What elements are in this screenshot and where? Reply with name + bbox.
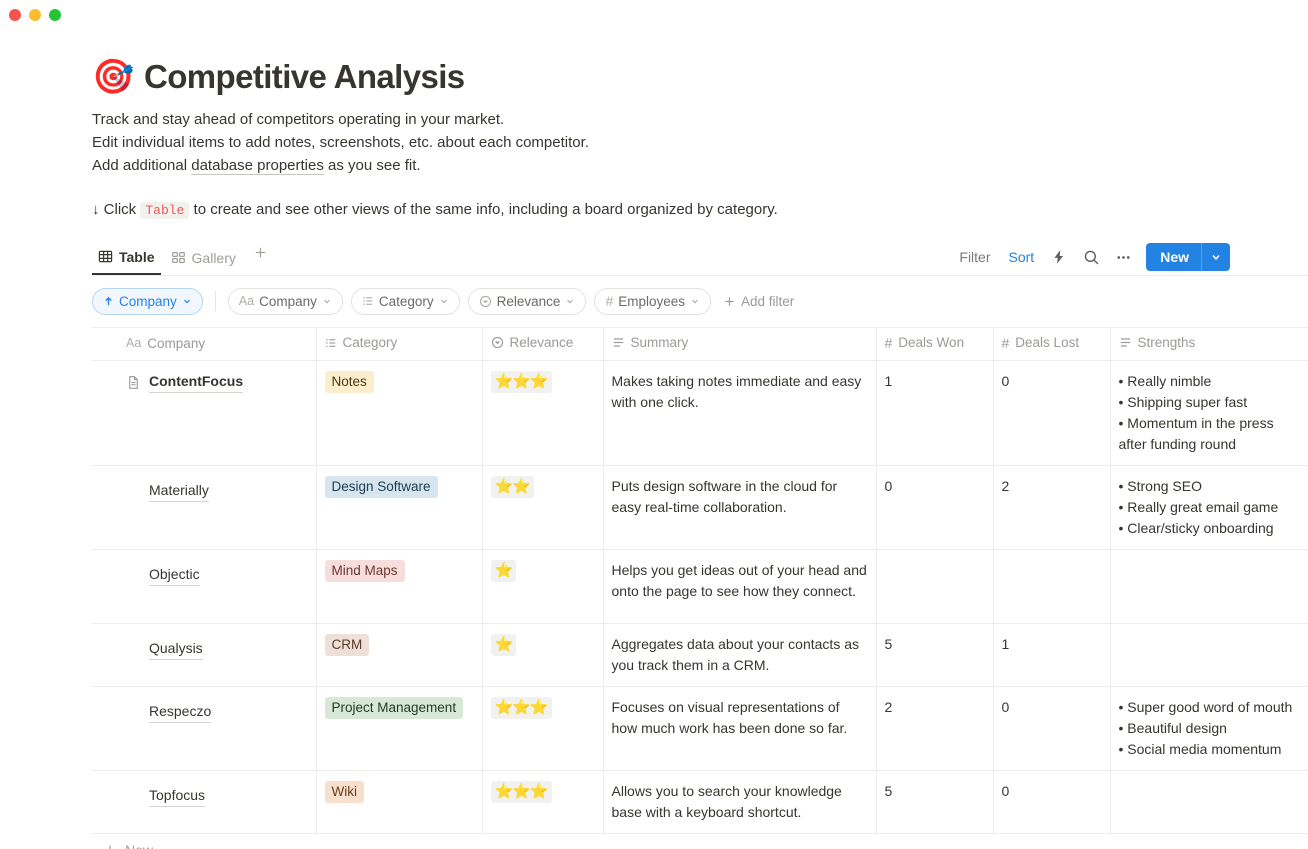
multiselect-icon <box>325 337 337 349</box>
lightning-icon[interactable] <box>1046 244 1072 270</box>
add-view-button[interactable] <box>246 245 275 268</box>
company-name[interactable]: Objectic <box>149 564 200 586</box>
hint-line: ↓ Click Table to create and see other vi… <box>92 198 1308 222</box>
column-header-category-label: Category <box>343 335 398 350</box>
filter-chip-employees[interactable]: # Employees <box>594 288 711 315</box>
cell-summary[interactable]: Allows you to search your knowledge base… <box>603 771 876 834</box>
category-tag: Mind Maps <box>325 560 405 582</box>
multiselect-icon <box>362 295 374 307</box>
sort-chip-label: Company <box>119 294 177 309</box>
cell-deals-lost[interactable]: 0 <box>993 771 1110 834</box>
column-header-deals-lost[interactable]: # Deals Lost <box>993 328 1110 361</box>
description-link-suffix: as you see fit. <box>324 157 421 174</box>
column-header-deals-lost-label: Deals Lost <box>1015 335 1079 350</box>
tab-gallery-label: Gallery <box>192 250 236 266</box>
tab-table[interactable]: Table <box>92 241 161 275</box>
page-description: Track and stay ahead of competitors oper… <box>92 108 1308 222</box>
cell-summary[interactable]: Aggregates data about your contacts as y… <box>603 624 876 687</box>
cell-category[interactable]: CRM <box>316 624 482 687</box>
cell-deals-won[interactable] <box>876 550 993 624</box>
column-header-strengths[interactable]: Strengths <box>1110 328 1308 361</box>
filter-chip-category[interactable]: Category <box>351 288 460 315</box>
add-filter-label: Add filter <box>741 294 794 309</box>
filter-chip-relevance[interactable]: Relevance <box>468 288 587 315</box>
category-tag: Project Management <box>325 697 464 719</box>
tab-table-label: Table <box>119 249 155 265</box>
cell-deals-lost[interactable]: 2 <box>993 466 1110 550</box>
relevance-stars: ⭐⭐⭐ <box>491 371 552 393</box>
company-name[interactable]: Materially <box>149 480 209 502</box>
new-button[interactable]: New <box>1146 243 1230 271</box>
window-close-button[interactable] <box>9 9 21 21</box>
filter-bar-divider <box>215 291 216 311</box>
cell-relevance[interactable]: ⭐⭐⭐ <box>482 687 603 771</box>
cell-summary[interactable]: Focuses on visual representations of how… <box>603 687 876 771</box>
filter-chip-category-label: Category <box>379 294 434 309</box>
column-header-relevance[interactable]: Relevance <box>482 328 603 361</box>
category-tag: CRM <box>325 634 370 656</box>
filter-chip-company[interactable]: Aa Company <box>228 288 343 315</box>
cell-category[interactable]: Mind Maps <box>316 550 482 624</box>
cell-strengths[interactable]: • Really nimble • Shipping super fast • … <box>1110 361 1308 466</box>
database-properties-link[interactable]: database properties <box>191 157 324 175</box>
number-icon: # <box>885 336 893 350</box>
company-name[interactable]: Topfocus <box>149 785 205 807</box>
page-content: 🎯 Competitive Analysis Track and stay ah… <box>0 58 1308 849</box>
table-row[interactable]: Qualysis CRM ⭐ Aggregates data about you… <box>92 624 1308 687</box>
cell-category[interactable]: Notes <box>316 361 482 466</box>
filter-button[interactable]: Filter <box>953 245 996 269</box>
column-header-company-label: Company <box>147 336 205 351</box>
column-header-summary[interactable]: Summary <box>603 328 876 361</box>
category-tag: Wiki <box>325 781 365 803</box>
table-icon <box>98 249 113 264</box>
database-table-wrapper: Aa Company <box>92 327 1308 849</box>
sort-button[interactable]: Sort <box>1003 245 1041 269</box>
category-tag: Notes <box>325 371 374 393</box>
cell-category[interactable]: Project Management <box>316 687 482 771</box>
target-icon: 🎯 <box>92 60 132 94</box>
page-icon[interactable] <box>126 375 142 390</box>
column-header-summary-label: Summary <box>631 335 689 350</box>
filter-chip-employees-label: Employees <box>618 294 685 309</box>
chevron-down-icon[interactable] <box>1202 243 1230 271</box>
cell-strengths[interactable] <box>1110 550 1308 624</box>
chevron-down-icon <box>322 296 332 306</box>
cell-category[interactable]: Design Software <box>316 466 482 550</box>
number-icon: # <box>605 294 613 308</box>
chevron-down-icon <box>690 296 700 306</box>
view-bar: Table Gallery Fil <box>92 242 1308 276</box>
table-header-row: Aa Company <box>92 328 1308 361</box>
search-icon[interactable] <box>1078 244 1104 270</box>
column-header-company[interactable]: Aa Company <box>92 328 316 361</box>
cell-company[interactable]: Topfocus <box>92 771 316 834</box>
hint-prefix: ↓ Click <box>92 201 140 218</box>
page-title: Competitive Analysis <box>144 58 465 96</box>
cell-relevance[interactable]: ⭐⭐ <box>482 466 603 550</box>
cell-company[interactable]: Materially <box>92 466 316 550</box>
page-header: 🎯 Competitive Analysis <box>92 58 1308 96</box>
cell-deals-won[interactable]: 0 <box>876 466 993 550</box>
gallery-icon <box>171 250 186 265</box>
table-row[interactable]: ContentFocus Notes ⭐⭐⭐ Makes taking note… <box>92 361 1308 466</box>
number-icon: # <box>1002 336 1010 350</box>
cell-deals-lost[interactable]: 0 <box>993 687 1110 771</box>
description-line-1: Track and stay ahead of competitors oper… <box>92 108 1308 131</box>
cell-deals-won[interactable]: 5 <box>876 771 993 834</box>
description-link-prefix: Add additional <box>92 157 191 174</box>
new-button-label: New <box>1146 243 1201 271</box>
cell-strengths[interactable]: • Super good word of mouth • Beautiful d… <box>1110 687 1308 771</box>
category-tag: Design Software <box>325 476 438 498</box>
company-name[interactable]: Respeczo <box>149 701 211 723</box>
relevance-stars: ⭐⭐⭐ <box>491 697 552 719</box>
relevance-stars: ⭐⭐ <box>491 476 534 498</box>
tab-gallery[interactable]: Gallery <box>165 241 242 275</box>
cell-summary[interactable]: Helps you get ideas out of your head and… <box>603 550 876 624</box>
table-code-chip: Table <box>140 202 189 219</box>
column-header-relevance-label: Relevance <box>510 335 574 350</box>
filter-chip-company-label: Company <box>259 294 317 309</box>
text-icon: Aa <box>239 294 254 308</box>
relevance-stars: ⭐ <box>491 560 517 582</box>
table-row[interactable]: Objectic Mind Maps ⭐ Helps you get ideas… <box>92 550 1308 624</box>
window-minimize-button[interactable] <box>29 9 41 21</box>
cell-relevance[interactable]: ⭐ <box>482 624 603 687</box>
cell-company[interactable]: Respeczo <box>92 687 316 771</box>
select-icon <box>491 336 504 349</box>
cell-strengths[interactable] <box>1110 771 1308 834</box>
cell-company[interactable]: Qualysis <box>92 624 316 687</box>
cell-company[interactable]: Objectic <box>92 550 316 624</box>
add-filter-button[interactable]: Add filter <box>719 294 798 309</box>
cell-deals-lost[interactable]: 1 <box>993 624 1110 687</box>
hint-suffix: to create and see other views of the sam… <box>189 201 777 218</box>
sort-chip-company[interactable]: Company <box>92 288 203 315</box>
view-tabs: Table Gallery <box>92 241 275 275</box>
plus-icon <box>723 295 736 308</box>
table-header: Aa Company <box>92 328 1308 361</box>
table-row[interactable]: Respeczo Project Management ⭐⭐⭐ Focuses … <box>92 687 1308 771</box>
cell-relevance[interactable]: ⭐⭐⭐ <box>482 771 603 834</box>
ellipsis-icon[interactable] <box>1110 244 1136 270</box>
cell-strengths[interactable]: • Strong SEO • Really great email game •… <box>1110 466 1308 550</box>
cell-deals-lost[interactable]: 0 <box>993 361 1110 466</box>
description-spacer <box>92 177 1308 198</box>
column-header-deals-won-label: Deals Won <box>898 335 964 350</box>
filter-chip-relevance-label: Relevance <box>497 294 561 309</box>
plus-icon <box>103 843 117 849</box>
relevance-stars: ⭐⭐⭐ <box>491 781 552 803</box>
cell-deals-lost[interactable] <box>993 550 1110 624</box>
column-header-strengths-label: Strengths <box>1138 335 1196 350</box>
table-row[interactable]: Topfocus Wiki ⭐⭐⭐ Allows you to search y… <box>92 771 1308 834</box>
new-row-button[interactable]: New <box>92 834 1308 849</box>
cell-deals-won[interactable]: 1 <box>876 361 993 466</box>
cell-deals-won[interactable]: 2 <box>876 687 993 771</box>
longtext-icon <box>1119 336 1132 349</box>
view-actions: Filter Sort New <box>953 243 1230 275</box>
description-line-2: Edit individual items to add notes, scre… <box>92 131 1308 154</box>
cell-deals-won[interactable]: 5 <box>876 624 993 687</box>
text-icon: Aa <box>126 336 141 350</box>
description-line-3: Add additional database properties as yo… <box>92 154 1308 177</box>
chevron-down-icon <box>182 296 192 306</box>
new-row-label: New <box>125 842 153 849</box>
select-icon <box>479 295 492 308</box>
cell-category[interactable]: Wiki <box>316 771 482 834</box>
table-body: ContentFocus Notes ⭐⭐⭐ Makes taking note… <box>92 361 1308 834</box>
cell-summary[interactable]: Makes taking notes immediate and easy wi… <box>603 361 876 466</box>
chevron-down-icon <box>565 296 575 306</box>
cell-summary[interactable]: Puts design software in the cloud for ea… <box>603 466 876 550</box>
company-name[interactable]: Qualysis <box>149 638 203 660</box>
relevance-stars: ⭐ <box>491 634 517 656</box>
arrow-up-icon <box>103 296 114 307</box>
company-name[interactable]: ContentFocus <box>149 371 243 393</box>
longtext-icon <box>612 336 625 349</box>
cell-strengths[interactable] <box>1110 624 1308 687</box>
cell-relevance[interactable]: ⭐⭐⭐ <box>482 361 603 466</box>
filter-bar: Company Aa Company <box>92 287 1308 315</box>
window-titlebar <box>0 0 1308 30</box>
chevron-down-icon <box>439 296 449 306</box>
cell-company[interactable]: ContentFocus <box>92 361 316 466</box>
cell-relevance[interactable]: ⭐ <box>482 550 603 624</box>
table-row[interactable]: Materially Design Software ⭐⭐ Puts desig… <box>92 466 1308 550</box>
column-header-category[interactable]: Category <box>316 328 482 361</box>
window-maximize-button[interactable] <box>49 9 61 21</box>
column-header-deals-won[interactable]: # Deals Won <box>876 328 993 361</box>
database-table: Aa Company <box>92 327 1308 834</box>
